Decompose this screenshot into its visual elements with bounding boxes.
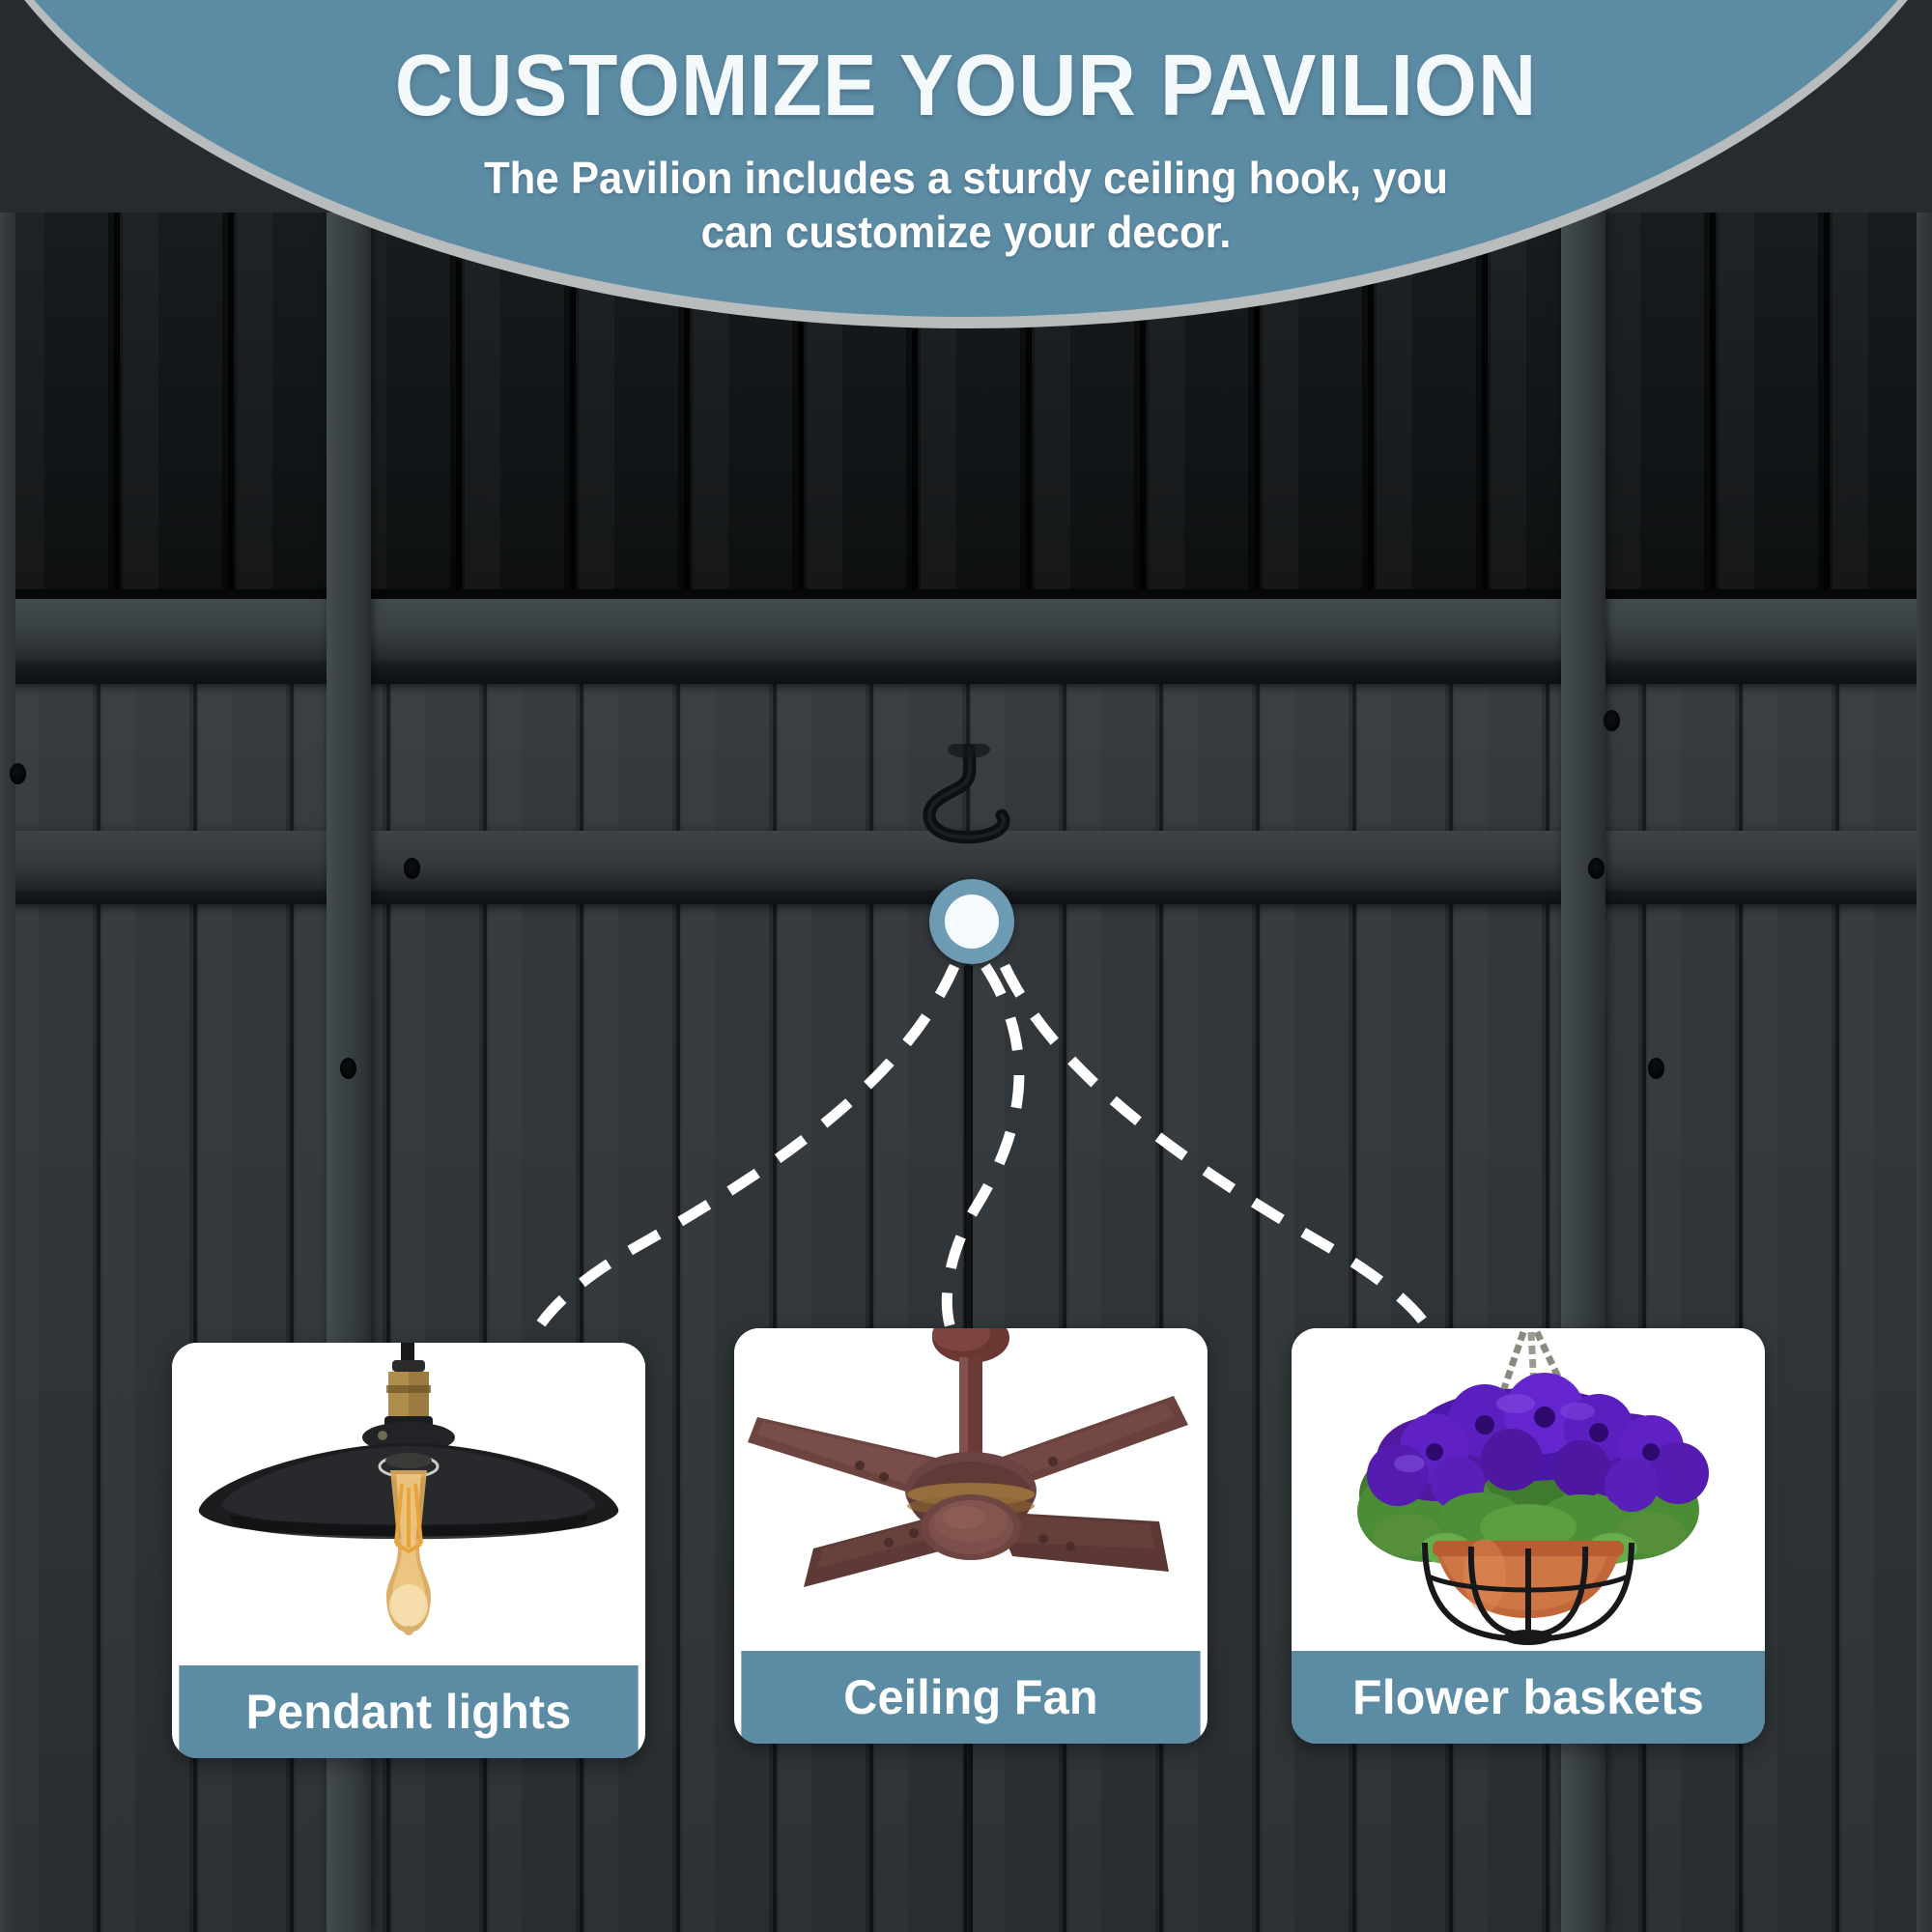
option-card-pendant-lights[interactable]: Pendant lights — [172, 1343, 645, 1758]
bolt-hole — [1588, 858, 1605, 879]
card-label-pendant-lights: Pendant lights — [179, 1665, 638, 1758]
bolt-hole — [1648, 1058, 1664, 1079]
hook-icon — [908, 744, 1034, 869]
page-title: CUSTOMIZE YOUR PAVILION — [68, 43, 1864, 129]
pendant-lamp-icon — [172, 1343, 645, 1665]
ceiling-beam-upper — [0, 599, 1932, 663]
option-card-flower-baskets[interactable]: Flower baskets — [1292, 1328, 1765, 1744]
card-label-flower-baskets: Flower baskets — [1292, 1651, 1765, 1744]
page-subtitle: The Pavilion includes a sturdy ceiling h… — [434, 151, 1498, 259]
bolt-hole — [404, 858, 420, 879]
hook-connector-dot-core — [945, 895, 999, 949]
bolt-hole — [340, 1058, 356, 1079]
pavilion-post-far-right — [1917, 213, 1932, 1932]
option-card-ceiling-fan[interactable]: Ceiling Fan — [734, 1328, 1207, 1744]
pavilion-post-far-left — [0, 213, 15, 1932]
ceiling-hook — [908, 744, 1034, 869]
hanging-flower-basket-icon — [1292, 1328, 1765, 1651]
subtitle-line-1: The Pavilion includes a sturdy ceiling h… — [484, 153, 1448, 203]
ceiling-fan-image — [734, 1328, 1207, 1651]
ceiling-beam-upper-lip — [0, 663, 1932, 684]
hook-connector-dot — [929, 879, 1014, 964]
subtitle-line-2: can customize your decor. — [701, 207, 1232, 257]
bolt-hole — [10, 763, 26, 784]
flower-basket-image — [1292, 1328, 1765, 1651]
card-label-ceiling-fan: Ceiling Fan — [741, 1651, 1200, 1744]
product-infographic: CUSTOMIZE YOUR PAVILION The Pavilion inc… — [0, 0, 1932, 1932]
ceiling-fan-icon — [734, 1328, 1207, 1651]
pendant-light-image — [172, 1343, 645, 1665]
header-banner: CUSTOMIZE YOUR PAVILION The Pavilion inc… — [0, 0, 1932, 406]
bolt-hole — [1604, 710, 1620, 731]
